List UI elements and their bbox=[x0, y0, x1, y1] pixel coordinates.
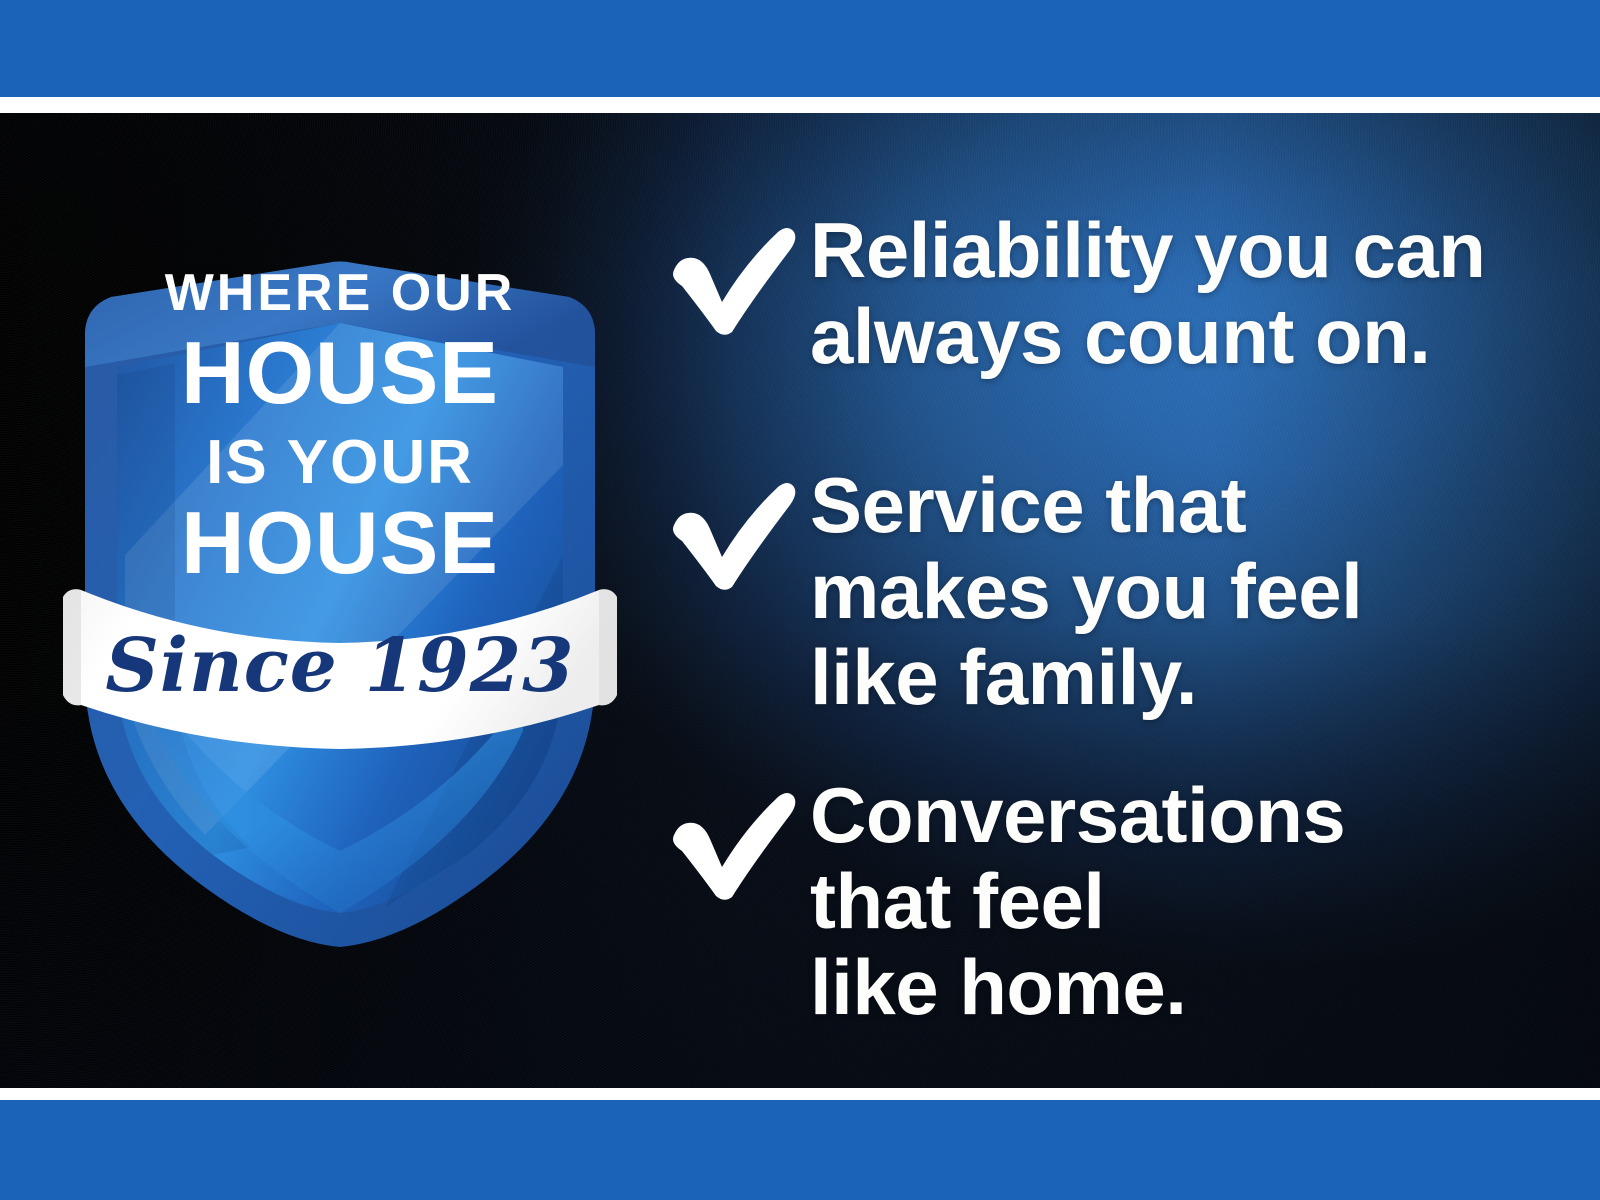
list-item-label: Conversations that feel like home. bbox=[810, 773, 1560, 1030]
bottom-white-rule bbox=[0, 1088, 1600, 1100]
ribbon-fold-right bbox=[599, 589, 617, 705]
bottom-brand-bar bbox=[0, 1100, 1600, 1200]
check-icon bbox=[660, 773, 810, 901]
ribbon-fold-left bbox=[63, 589, 81, 705]
shield-line-1: WHERE OUR bbox=[165, 264, 516, 322]
top-white-rule bbox=[0, 97, 1600, 113]
promo-graphic: WHERE OUR HOUSE IS YOUR HOUSE Since 1923… bbox=[0, 0, 1600, 1200]
list-item: Conversations that feel like home. bbox=[660, 773, 1560, 1030]
list-item: Service that makes you feel like family. bbox=[660, 463, 1560, 720]
benefits-list: Reliability you can always count on. Ser… bbox=[660, 113, 1560, 1088]
list-item-label: Reliability you can always count on. bbox=[810, 208, 1560, 380]
check-icon bbox=[660, 463, 810, 591]
top-brand-bar bbox=[0, 0, 1600, 97]
list-item: Reliability you can always count on. bbox=[660, 208, 1560, 380]
ribbon-since-text: Since 1923 bbox=[105, 623, 574, 709]
shield-line-2: HOUSE bbox=[181, 323, 499, 422]
shield-line-4: HOUSE bbox=[181, 493, 499, 592]
shield-emblem: WHERE OUR HOUSE IS YOUR HOUSE Since 1923 bbox=[55, 135, 625, 975]
shield-line-3: IS YOUR bbox=[206, 428, 474, 497]
list-item-label: Service that makes you feel like family. bbox=[810, 463, 1560, 720]
check-icon bbox=[660, 208, 810, 336]
